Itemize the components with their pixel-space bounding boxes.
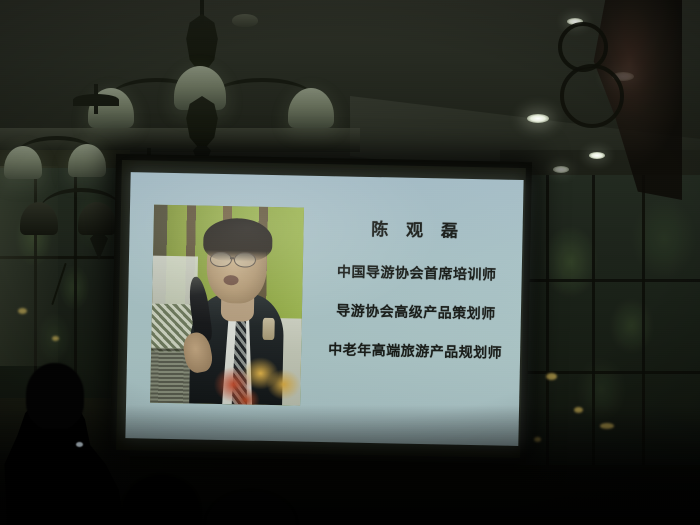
slide-text-block: 陈 观 磊 中国导游协会首席培训师 导游协会高级产品策划师 中老年高端旅游产品规… bbox=[317, 200, 517, 382]
decor-ring bbox=[560, 64, 624, 128]
speaker-photo bbox=[150, 205, 304, 406]
standing-presenter-head bbox=[26, 363, 84, 429]
photo-eyeglass-bridge bbox=[229, 258, 234, 260]
photo-eyeglass-left bbox=[210, 251, 232, 267]
downlight-4 bbox=[589, 152, 605, 159]
slide-credential-1: 中国导游协会首席培训师 bbox=[319, 261, 515, 285]
photo-flower-arrangement bbox=[213, 348, 304, 405]
photo-mouth bbox=[223, 275, 238, 285]
lamp-shade bbox=[68, 144, 106, 177]
slide-title: 陈 观 磊 bbox=[319, 214, 515, 243]
photo-lapel-badge bbox=[262, 318, 274, 340]
window-mullion bbox=[520, 279, 700, 282]
slide-credential-2: 导游协会高级产品策划师 bbox=[318, 300, 514, 324]
conference-room-photo: 陈 观 磊 中国导游协会首席培训师 导游协会高级产品策划师 中老年高端旅游产品规… bbox=[0, 0, 700, 525]
chandelier-arm bbox=[40, 188, 122, 210]
chandelier-canopy bbox=[73, 94, 119, 106]
microphone-indicator-light bbox=[76, 442, 83, 447]
downlight-5 bbox=[553, 166, 569, 173]
photo-eyeglass-right bbox=[234, 252, 256, 268]
chandelier-finial bbox=[90, 234, 108, 260]
slide-credential-3: 中老年高端旅游产品规划师 bbox=[317, 339, 513, 363]
window-light-glint bbox=[546, 373, 557, 380]
downlight-3 bbox=[527, 114, 549, 123]
